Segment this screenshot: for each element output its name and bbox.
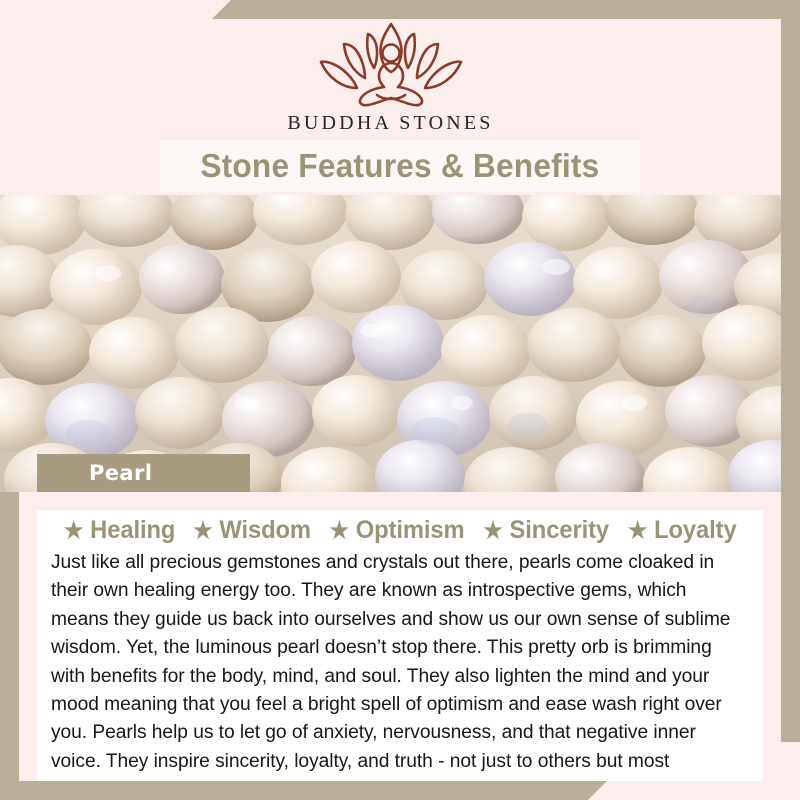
- keyword-sincerity: ★ Sincerity: [484, 516, 610, 545]
- keyword-wisdom: ★ Wisdom: [193, 516, 311, 545]
- page-title: Stone Features & Benefits: [200, 147, 599, 185]
- pearl-photo-graphic: [0, 195, 781, 492]
- star-icon: ★: [627, 519, 647, 542]
- star-icon: ★: [64, 519, 84, 542]
- frame-band-top: [212, 0, 800, 19]
- star-icon: ★: [193, 519, 213, 542]
- infographic-card: Pearl BUDD: [0, 0, 800, 800]
- keyword-optimism: ★ Optimism: [330, 516, 465, 545]
- keyword-label: Wisdom: [219, 516, 311, 545]
- content-gap: [0, 492, 781, 510]
- keyword-label: Sincerity: [510, 516, 609, 545]
- brand-logo[interactable]: BUDDHA STONES: [0, 18, 781, 135]
- stone-name-chip: Pearl: [37, 454, 250, 492]
- frame-band-bottom: [0, 781, 607, 800]
- pearl-photo: Pearl: [0, 195, 781, 492]
- keyword-label: Loyalty: [654, 516, 736, 545]
- stone-name-label: Pearl: [89, 461, 152, 485]
- keyword-label: Optimism: [356, 516, 465, 545]
- star-icon: ★: [330, 519, 350, 542]
- keyword-label: Healing: [90, 516, 175, 545]
- frame-band-left: [0, 492, 19, 800]
- keyword-row: ★ Healing ★ Wisdom ★ Optimism ★ Sincerit…: [37, 516, 763, 545]
- brand-name: BUDDHA STONES: [287, 112, 493, 135]
- lotus-meditation-icon: [311, 18, 471, 110]
- star-icon: ★: [484, 519, 504, 542]
- stone-description: Just like all precious gemstones and cry…: [51, 548, 735, 800]
- title-banner: Stone Features & Benefits: [160, 140, 640, 192]
- frame-band-right: [781, 0, 800, 742]
- keyword-loyalty: ★ Loyalty: [627, 516, 736, 545]
- content-panel: ★ Healing ★ Wisdom ★ Optimism ★ Sincerit…: [37, 510, 763, 781]
- keyword-healing: ★ Healing: [64, 516, 175, 545]
